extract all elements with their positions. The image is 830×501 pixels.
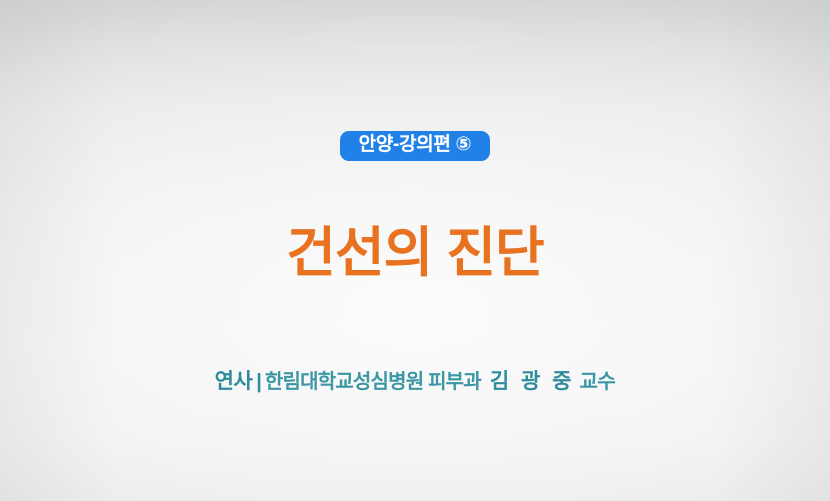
lecture-title: 건선의 진단 — [286, 222, 543, 284]
speaker-name: 김 광 중 — [481, 370, 575, 393]
chapter-badge: 안양-강의편 ⑤ — [340, 131, 491, 161]
speaker-credit-line: 연사|한림대학교성심병원 피부과김 광 중교수 — [0, 365, 830, 395]
speaker-rank: 교수 — [575, 371, 616, 393]
title-slide: 안양-강의편 ⑤ 건선의 진단 연사|한림대학교성심병원 피부과김 광 중교수 — [0, 0, 830, 501]
speaker-label: 연사 — [215, 370, 253, 393]
lecture-title-row: 건선의 진단 — [0, 222, 830, 284]
chapter-badge-row: 안양-강의편 ⑤ — [0, 131, 830, 161]
speaker-affiliation: 한림대학교성심병원 피부과 — [265, 371, 481, 393]
speaker-separator: | — [252, 371, 265, 393]
